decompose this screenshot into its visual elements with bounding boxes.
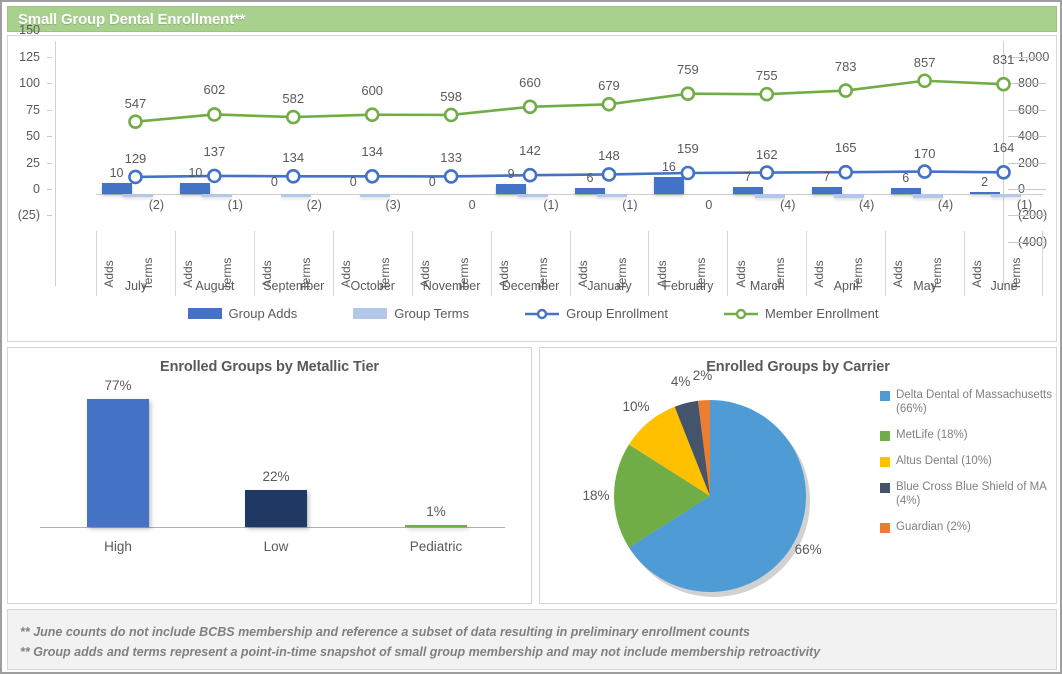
metallic-tier-category-label: High [104, 539, 132, 554]
metallic-tier-title: Enrolled Groups by Metallic Tier [8, 359, 531, 375]
x-axis-sub-label-cell: Terms [372, 231, 411, 276]
y-axis-left-tick: 150 [8, 24, 46, 36]
carrier-legend-item[interactable]: Blue Cross Blue Shield of MA (4%) [880, 480, 1060, 508]
bar-group-adds[interactable] [654, 177, 684, 194]
x-axis-sub-label-cell: Adds [412, 231, 451, 276]
x-axis-sub-label-cell: Adds [570, 231, 609, 276]
metallic-tier-data-label: 77% [104, 378, 131, 393]
legend-label: Group Adds [229, 306, 298, 321]
data-label-group-enrollment: 133 [440, 150, 462, 165]
marker-group-enrollment[interactable] [840, 166, 852, 178]
carrier-legend-item[interactable]: Guardian (2%) [880, 520, 1060, 534]
bar-group-adds[interactable] [812, 187, 842, 194]
carrier-legend-label: MetLife (18%) [896, 428, 968, 442]
metallic-tier-baseline [40, 527, 505, 528]
x-axis-sub-label-cell: Terms [609, 231, 648, 276]
y-axis-left-tickmark [47, 30, 52, 31]
data-label-group-terms: (3) [386, 198, 401, 212]
marker-group-enrollment[interactable] [919, 166, 931, 178]
carrier-panel: Enrolled Groups by Carrier 66%18%10%4%2%… [539, 347, 1057, 604]
line-group-enrollment [135, 172, 1003, 177]
x-axis-label-month: August [175, 276, 254, 296]
dashboard-title-bar: Small Group Dental Enrollment** [7, 6, 1057, 32]
data-label-group-terms: (2) [307, 198, 322, 212]
bar-group-adds[interactable] [102, 183, 132, 194]
legend-swatch-icon [188, 308, 222, 319]
metallic-tier-bar[interactable] [87, 399, 149, 527]
data-label-member-enrollment: 582 [282, 91, 304, 106]
data-label-group-terms: (1) [622, 198, 637, 212]
data-label-group-enrollment: 134 [361, 144, 383, 159]
metallic-tier-plot: 77%High22%Low1%Pediatric [28, 393, 518, 558]
x-axis-label-month: November [412, 276, 491, 296]
carrier-pie-labels: 66%18%10%4%2% [540, 348, 830, 553]
footnote-box: ** June counts do not include BCBS membe… [7, 609, 1057, 670]
data-label-group-adds: 6 [902, 171, 909, 185]
bar-group-terms[interactable] [518, 194, 548, 197]
metallic-tier-data-label: 22% [262, 469, 289, 484]
x-axis-label-month: April [806, 276, 885, 296]
x-axis-sub-label-cell: Terms [293, 231, 332, 276]
data-label-group-terms: (4) [938, 198, 953, 212]
x-axis-sub-label-cell: Terms [135, 231, 174, 276]
legend-line-marker-icon [525, 308, 559, 320]
metallic-tier-bar[interactable] [245, 490, 307, 527]
y-axis-left-tick: 75 [8, 104, 46, 116]
carrier-legend-label: Guardian (2%) [896, 520, 971, 534]
bar-group-adds[interactable] [180, 183, 210, 194]
marker-group-enrollment[interactable] [129, 171, 141, 183]
data-label-member-enrollment: 759 [677, 62, 699, 77]
data-label-member-enrollment: 547 [125, 96, 147, 111]
carrier-legend-swatch-icon [880, 431, 890, 441]
x-axis-band: AddsTermsJulyAddsTermsAugustAddsTermsSep… [96, 231, 1043, 296]
x-axis-label-month: February [648, 276, 727, 296]
metallic-tier-panel: Enrolled Groups by Metallic Tier 77%High… [7, 347, 532, 604]
x-axis-sub-label-cell: Terms [530, 231, 569, 276]
carrier-legend-label: Altus Dental (10%) [896, 454, 992, 468]
pie-slice-label: 66% [795, 542, 822, 557]
x-axis-sub-label-cell: Adds [175, 231, 214, 276]
marker-member-enrollment[interactable] [129, 116, 141, 128]
x-axis-sub-label-cell: Adds [885, 231, 924, 276]
marker-group-enrollment[interactable] [761, 167, 773, 179]
marker-member-enrollment[interactable] [287, 111, 299, 123]
data-label-member-enrollment: 755 [756, 68, 778, 83]
footnote-line-2: ** Group adds and terms represent a poin… [20, 642, 1056, 662]
x-axis-sub-label-cell: Adds [648, 231, 687, 276]
bar-group-terms[interactable] [360, 194, 390, 197]
x-axis-sub-label-cell: Adds [491, 231, 530, 276]
carrier-legend-swatch-icon [880, 523, 890, 533]
data-label-group-adds: 0 [350, 175, 357, 189]
legend-line-marker-icon [724, 308, 758, 320]
legend-item[interactable]: Group Adds [188, 306, 298, 321]
marker-member-enrollment[interactable] [445, 109, 457, 121]
x-axis-sub-label-cell: Terms [451, 231, 490, 276]
x-axis-label-month: June [964, 276, 1043, 296]
data-label-group-enrollment: 148 [598, 148, 620, 163]
pie-slice-label: 2% [693, 368, 713, 383]
bar-group-adds[interactable] [496, 184, 526, 194]
x-axis-sub-label-cell: Terms [925, 231, 964, 276]
data-label-member-enrollment: 598 [440, 89, 462, 104]
data-label-group-enrollment: 159 [677, 141, 699, 156]
marker-group-enrollment[interactable] [524, 169, 536, 181]
carrier-legend-item[interactable]: Altus Dental (10%) [880, 454, 1060, 468]
bar-group-adds[interactable] [733, 187, 763, 194]
x-axis-sub-label-cell: Terms [767, 231, 806, 276]
y-axis-left-tick: (25) [8, 209, 46, 221]
marker-member-enrollment[interactable] [840, 85, 852, 97]
data-label-group-adds: 16 [662, 160, 676, 174]
metallic-tier-category-label: Pediatric [410, 539, 463, 554]
carrier-legend-item[interactable]: Delta Dental of Massachusetts (66%) [880, 388, 1060, 416]
x-axis-sub-label-cell: Terms [214, 231, 253, 276]
data-label-group-adds: 2 [981, 175, 988, 189]
bar-group-terms[interactable] [123, 194, 153, 197]
data-label-member-enrollment: 679 [598, 78, 620, 93]
y-axis-left-tick: 0 [8, 183, 46, 195]
data-label-group-adds: 0 [271, 175, 278, 189]
bar-group-terms[interactable] [281, 194, 311, 197]
data-label-group-enrollment: 162 [756, 147, 778, 162]
legend-swatch-icon [353, 308, 387, 319]
marker-member-enrollment[interactable] [603, 98, 615, 110]
data-label-member-enrollment: 783 [835, 59, 857, 74]
data-label-group-enrollment: 165 [835, 140, 857, 155]
x-axis-sub-label-cell: Adds [254, 231, 293, 276]
carrier-legend-swatch-icon [880, 457, 890, 467]
data-label-group-terms: (4) [859, 198, 874, 212]
x-axis-sub-label-cell: Adds [806, 231, 845, 276]
x-axis-sub-label-cell: Terms [1004, 231, 1043, 276]
data-label-member-enrollment: 602 [204, 82, 226, 97]
marker-member-enrollment[interactable] [761, 88, 773, 100]
y-axis-left-tick: 25 [8, 157, 46, 169]
metallic-tier-data-label: 1% [426, 504, 446, 519]
x-axis-label-month: March [727, 276, 806, 296]
x-axis-label-month: October [333, 276, 412, 296]
bar-group-terms[interactable] [597, 194, 627, 197]
footnote-line-1: ** June counts do not include BCBS membe… [20, 622, 1056, 642]
y-axis-left-tick: 50 [8, 130, 46, 142]
marker-group-enrollment[interactable] [366, 170, 378, 182]
data-label-group-enrollment: 129 [125, 151, 147, 166]
data-label-group-enrollment: 164 [993, 140, 1015, 155]
plot-inner: 10(2)10(1)0(2)0(3)009(1)6(1)1607(4)7(4)6… [96, 46, 1043, 231]
data-label-member-enrollment: 857 [914, 55, 936, 70]
x-axis-label-month: September [254, 276, 333, 296]
marker-group-enrollment[interactable] [208, 170, 220, 182]
marker-group-enrollment[interactable] [287, 170, 299, 182]
x-axis-label-month: July [96, 276, 175, 296]
marker-member-enrollment[interactable] [682, 88, 694, 100]
data-label-group-adds: 10 [188, 166, 202, 180]
marker-member-enrollment[interactable] [919, 75, 931, 87]
data-label-member-enrollment: 660 [519, 75, 541, 90]
data-label-group-terms: (4) [780, 198, 795, 212]
x-axis-sub-label-cell: Adds [333, 231, 372, 276]
legend-item[interactable]: Group Enrollment [525, 306, 668, 321]
main-chart-panel: 1501251007550250(25) 1,0008006004002000(… [7, 35, 1057, 342]
y-axis-left-tick: 125 [8, 51, 46, 63]
carrier-legend-swatch-icon [880, 391, 890, 401]
marker-member-enrollment[interactable] [366, 109, 378, 121]
legend-label: Member Enrollment [765, 306, 878, 321]
bar-group-terms[interactable] [202, 194, 232, 197]
dashboard-page: Small Group Dental Enrollment** 15012510… [0, 0, 1062, 674]
legend-item[interactable]: Member Enrollment [724, 306, 878, 321]
x-axis-label-month: May [885, 276, 964, 296]
marker-member-enrollment[interactable] [998, 78, 1010, 90]
x-axis-sub-label-cell: Adds [964, 231, 1003, 276]
y-axis-left: 1501251007550250(25) [8, 41, 46, 226]
metallic-tier-bar[interactable] [405, 525, 467, 527]
metallic-tier-category-label: Low [264, 539, 289, 554]
marker-group-enrollment[interactable] [998, 166, 1010, 178]
marker-member-enrollment[interactable] [208, 108, 220, 120]
carrier-legend-swatch-icon [880, 483, 890, 493]
carrier-legend-label: Blue Cross Blue Shield of MA (4%) [896, 480, 1060, 508]
data-label-group-adds: 6 [587, 171, 594, 185]
data-label-group-adds: 9 [508, 167, 515, 181]
marker-group-enrollment[interactable] [445, 170, 457, 182]
pie-slice-label: 10% [623, 399, 650, 414]
pie-slice-label: 4% [671, 374, 691, 389]
data-label-group-adds: 7 [823, 170, 830, 184]
data-label-group-enrollment: 170 [914, 146, 936, 161]
x-axis-sub-label-cell: Terms [688, 231, 727, 276]
main-chart-legend: Group AddsGroup TermsGroup EnrollmentMem… [8, 306, 1058, 321]
data-label-group-adds: 10 [110, 166, 124, 180]
data-label-group-enrollment: 137 [204, 144, 226, 159]
data-label-group-terms: 0 [469, 198, 476, 212]
data-label-group-adds: 7 [744, 170, 751, 184]
carrier-legend: Delta Dental of Massachusetts (66%)MetLi… [880, 388, 1060, 546]
y-axis-left-tick: 100 [8, 77, 46, 89]
data-label-group-terms: (2) [149, 198, 164, 212]
x-axis-label-month: December [491, 276, 570, 296]
data-label-group-terms: 0 [705, 198, 712, 212]
carrier-legend-label: Delta Dental of Massachusetts (66%) [896, 388, 1060, 416]
data-label-group-terms: (1) [1017, 198, 1032, 212]
line-member-enrollment [135, 81, 1003, 122]
legend-item[interactable]: Group Terms [353, 306, 469, 321]
data-label-group-adds: 0 [429, 175, 436, 189]
x-axis-sub-label-cell: Terms [846, 231, 885, 276]
data-label-group-enrollment: 142 [519, 143, 541, 158]
data-label-group-terms: (1) [228, 198, 243, 212]
x-axis-sub-label-cell: Adds [727, 231, 766, 276]
x-axis-label-month: January [570, 276, 649, 296]
x-axis-sub-label-cell: Adds [96, 231, 135, 276]
data-label-group-terms: (1) [543, 198, 558, 212]
data-label-group-enrollment: 134 [282, 150, 304, 165]
marker-group-enrollment[interactable] [603, 168, 615, 180]
legend-label: Group Terms [394, 306, 469, 321]
data-label-member-enrollment: 600 [361, 83, 383, 98]
bar-group-terms[interactable] [991, 194, 1021, 197]
data-label-member-enrollment: 831 [993, 52, 1015, 67]
carrier-legend-item[interactable]: MetLife (18%) [880, 428, 1060, 442]
marker-member-enrollment[interactable] [524, 101, 536, 113]
legend-label: Group Enrollment [566, 306, 668, 321]
pie-slice-label: 18% [582, 488, 609, 503]
main-plot-area: 10(2)10(1)0(2)0(3)009(1)6(1)1607(4)7(4)6… [48, 41, 1003, 291]
